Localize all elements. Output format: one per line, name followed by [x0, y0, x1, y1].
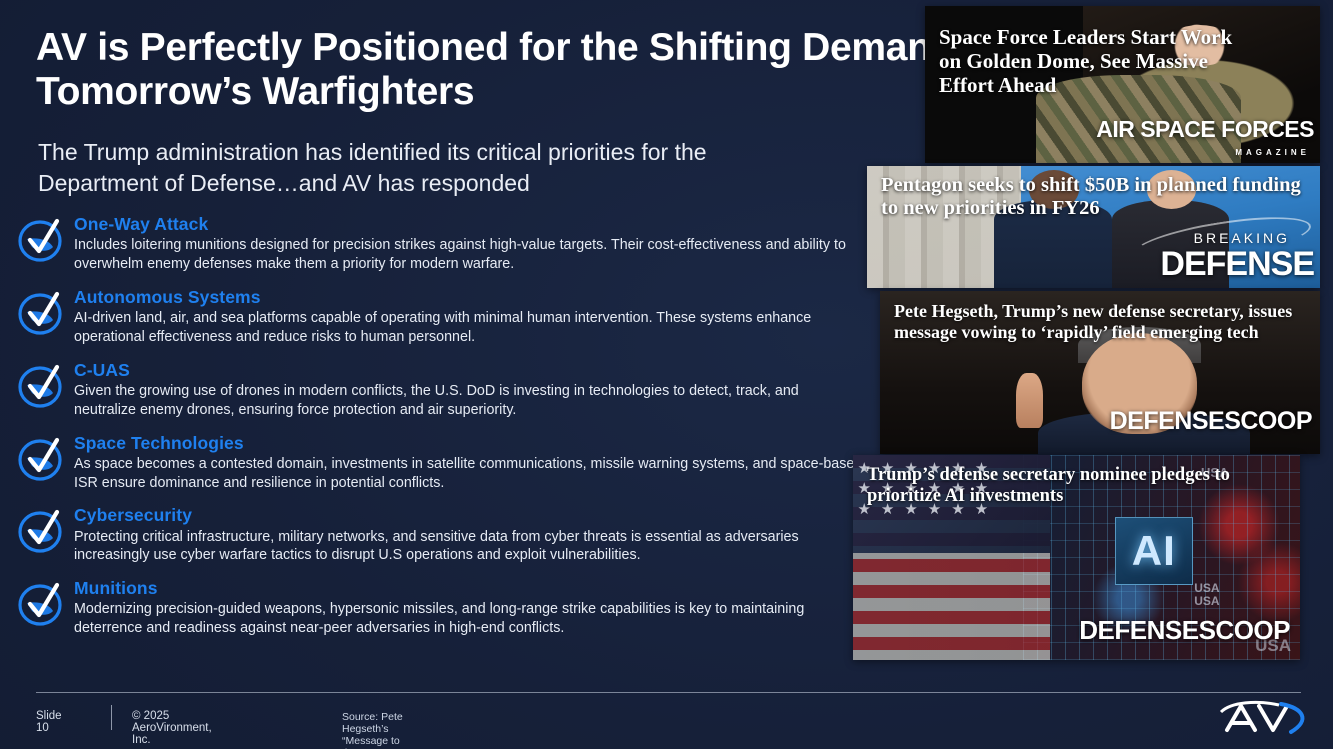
- card-headline: Trump’s defense secretary nominee pledge…: [867, 465, 1297, 507]
- slide-number: Slide 10: [36, 710, 62, 734]
- slide-canvas: AV is Perfectly Positioned for the Shift…: [0, 0, 1333, 749]
- news-card-breaking-defense[interactable]: Pentagon seeks to shift $50B in planned …: [867, 166, 1320, 288]
- brand-logo-subtext: BREAKING: [1194, 230, 1290, 246]
- brand-logo-subtext: MAGAZINE: [1235, 148, 1310, 157]
- footer-divider: [36, 692, 1301, 693]
- brand-logo-text: AIR SPACE FORCES: [1096, 116, 1314, 143]
- card-headline: Pentagon seeks to shift $50B in planned …: [881, 174, 1311, 221]
- copyright-text: © 2025 AeroVironment, Inc.: [132, 710, 212, 746]
- news-card-air-space-forces[interactable]: Space Force Leaders Start Work on Golden…: [925, 6, 1320, 163]
- ai-chip-graphic: AI: [1115, 517, 1193, 585]
- news-card-defensescoop-hegseth[interactable]: Pete Hegseth, Trump’s new defense secret…: [880, 291, 1320, 454]
- brand-logo-text: DEFENSESCOOP: [1079, 615, 1290, 646]
- card-photo-detail: [1016, 373, 1042, 428]
- overlay-usa-text: USAUSA: [1194, 582, 1219, 607]
- news-clippings-group: Space Force Leaders Start Work on Golden…: [0, 0, 1333, 749]
- brand-logo-text: DEFENSESCOOP: [1110, 407, 1312, 436]
- brand-logo-text: DEFENSE: [1160, 245, 1314, 284]
- card-headline: Space Force Leaders Start Work on Golden…: [939, 26, 1239, 98]
- footer-vertical-divider: [111, 705, 112, 730]
- av-logo: [1217, 698, 1315, 738]
- card-headline: Pete Hegseth, Trump’s new defense secret…: [894, 301, 1314, 342]
- source-citation: Source: Pete Hegseth’s “Message to the F…: [342, 711, 412, 749]
- news-card-defensescoop-ai[interactable]: ★★★★★★★★★★★★★★★★★★ AI USA USAUSA USA Tru…: [853, 455, 1300, 660]
